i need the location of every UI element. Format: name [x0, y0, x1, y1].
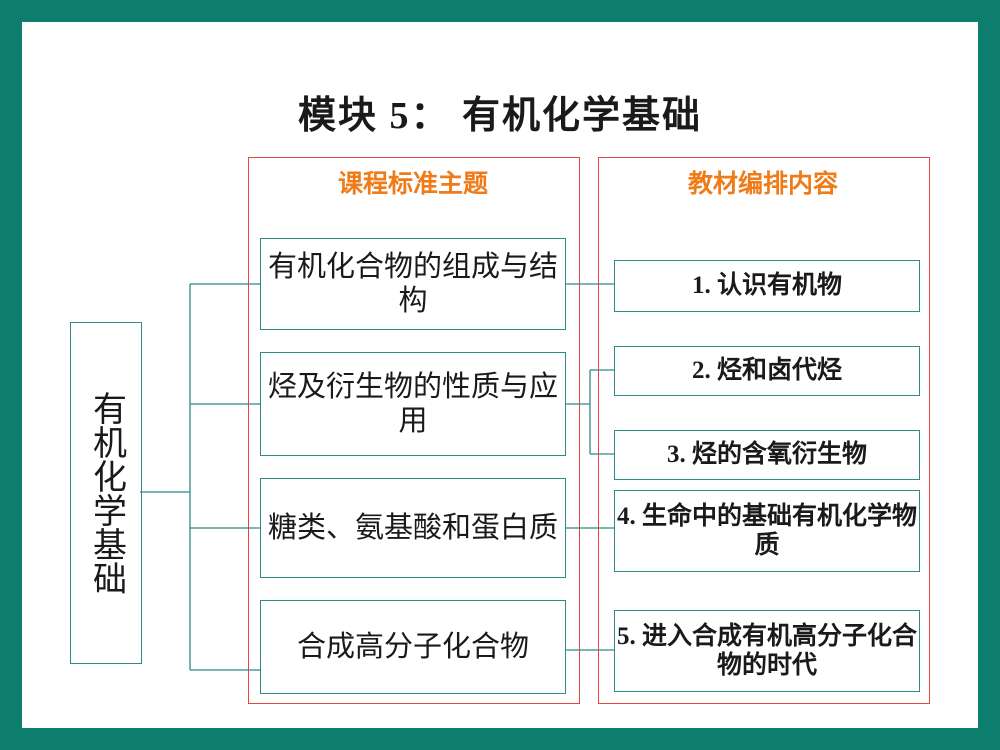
- root-node: 有机化学基础: [70, 322, 142, 664]
- left-node-4: 合成高分子化合物: [260, 600, 566, 694]
- slide-canvas: 模块 5： 有机化学基础 课程标准主题 教材编排内容 有机化学基础: [22, 22, 978, 728]
- left-node-1: 有机化合物的组成与结构: [260, 238, 566, 330]
- right-node-2: 2. 烃和卤代烃: [614, 346, 920, 396]
- right-node-5: 5. 进入合成有机高分子化合物的时代: [614, 610, 920, 692]
- panel-left-title: 课程标准主题: [248, 164, 578, 200]
- right-node-3: 3. 烃的含氧衍生物: [614, 430, 920, 480]
- slide-title: 模块 5： 有机化学基础: [22, 84, 978, 139]
- root-node-label: 有机化学基础: [88, 391, 123, 595]
- left-node-3: 糖类、氨基酸和蛋白质: [260, 478, 566, 578]
- right-node-4: 4. 生命中的基础有机化学物质: [614, 490, 920, 572]
- panel-right-title: 教材编排内容: [598, 164, 928, 200]
- left-node-2: 烃及衍生物的性质与应用: [260, 352, 566, 456]
- right-node-1: 1. 认识有机物: [614, 260, 920, 312]
